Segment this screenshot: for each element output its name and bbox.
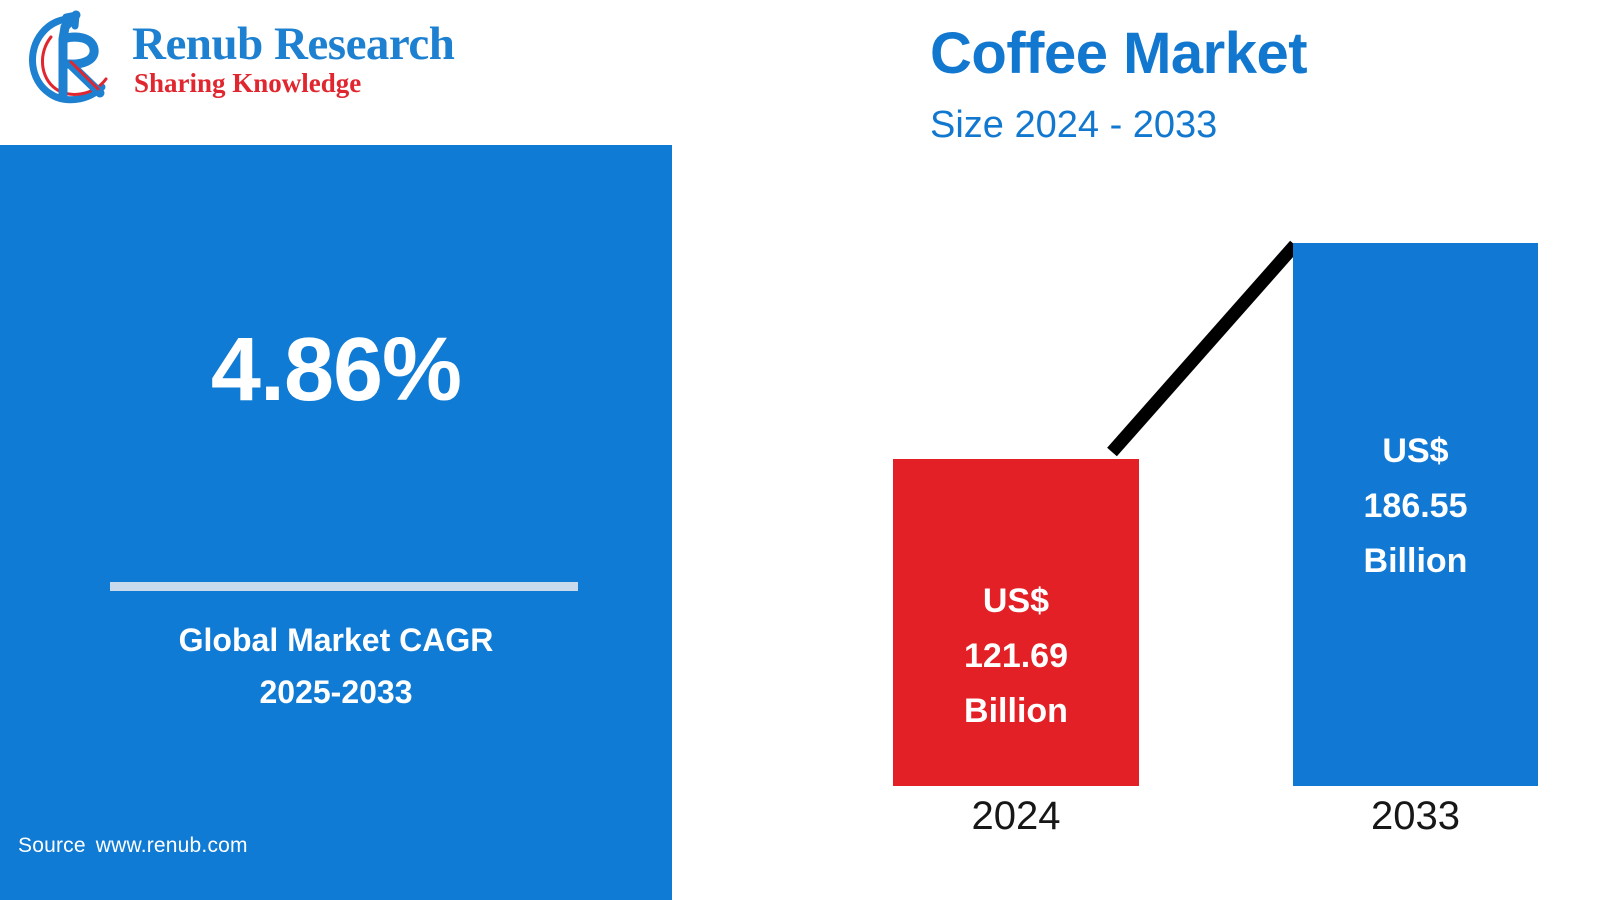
- renub-r-monogram-icon: [18, 9, 126, 109]
- source-note: Sourcewww.renub.com: [18, 834, 248, 858]
- bar-2024-value-label: US$ 121.69 Billion: [893, 574, 1139, 739]
- brand-wordmark: Renub Research Sharing Knowledge: [132, 21, 454, 97]
- axis-label-2024: 2024: [893, 792, 1139, 840]
- axis-label-2033: 2033: [1293, 792, 1538, 840]
- cagr-caption-line1: Global Market CAGR: [179, 622, 494, 658]
- bar-2033-amount: 186.55: [1293, 479, 1538, 534]
- cagr-caption: Global Market CAGR 2025-2033: [0, 615, 672, 719]
- bar-chart: US$ 121.69 Billion US$ 186.55 Billion 20…: [700, 0, 1600, 900]
- cagr-divider: [110, 582, 578, 591]
- bar-2033-unit: Billion: [1293, 534, 1538, 589]
- bar-2024-amount: 121.69: [893, 629, 1139, 684]
- bar-2024-unit: Billion: [893, 684, 1139, 739]
- infographic-canvas: Renub Research Sharing Knowledge Coffee …: [0, 0, 1600, 900]
- bar-2024-currency: US$: [893, 574, 1139, 629]
- cagr-panel: 4.86% Global Market CAGR 2025-2033 Sourc…: [0, 145, 672, 900]
- bar-2033-currency: US$: [1293, 424, 1538, 479]
- bar-2033: US$ 186.55 Billion: [1293, 243, 1538, 786]
- source-url: www.renub.com: [96, 834, 248, 857]
- source-label: Source: [18, 834, 86, 857]
- bar-2024: US$ 121.69 Billion: [893, 459, 1139, 786]
- cagr-value: 4.86%: [0, 325, 672, 415]
- brand-logo: Renub Research Sharing Knowledge: [18, 4, 538, 114]
- bar-2033-value-label: US$ 186.55 Billion: [1293, 424, 1538, 589]
- brand-tagline: Sharing Knowledge: [134, 69, 454, 97]
- brand-name: Renub Research: [132, 21, 454, 67]
- cagr-caption-line2: 2025-2033: [0, 667, 672, 719]
